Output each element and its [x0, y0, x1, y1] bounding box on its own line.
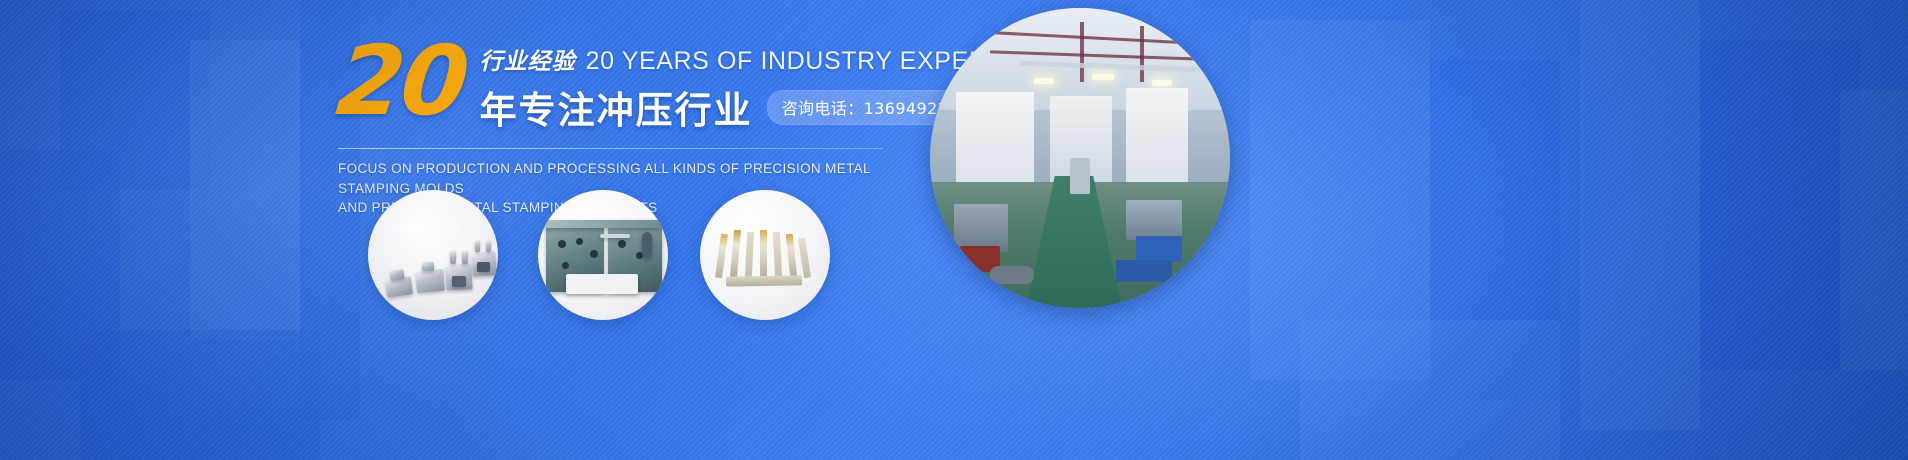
factory-photo: factory-workshop-production-line [930, 8, 1230, 308]
cn-experience-label: 行业经验 [480, 42, 576, 76]
years-number: 20 [333, 36, 470, 123]
product-image-pins: stamped-metal-terminal-pins [700, 190, 830, 320]
product-image-connectors: metal-stamped-connector-parts [368, 190, 498, 320]
cn-tagline: 年专注冲压行业 [480, 80, 753, 134]
divider-rule [338, 148, 883, 149]
promo-banner: 20 行业经验 20 YEARS OF INDUSTRY EXPERIENCE … [0, 0, 1908, 460]
product-image-mold: precision-stamping-mold-die [538, 190, 668, 320]
